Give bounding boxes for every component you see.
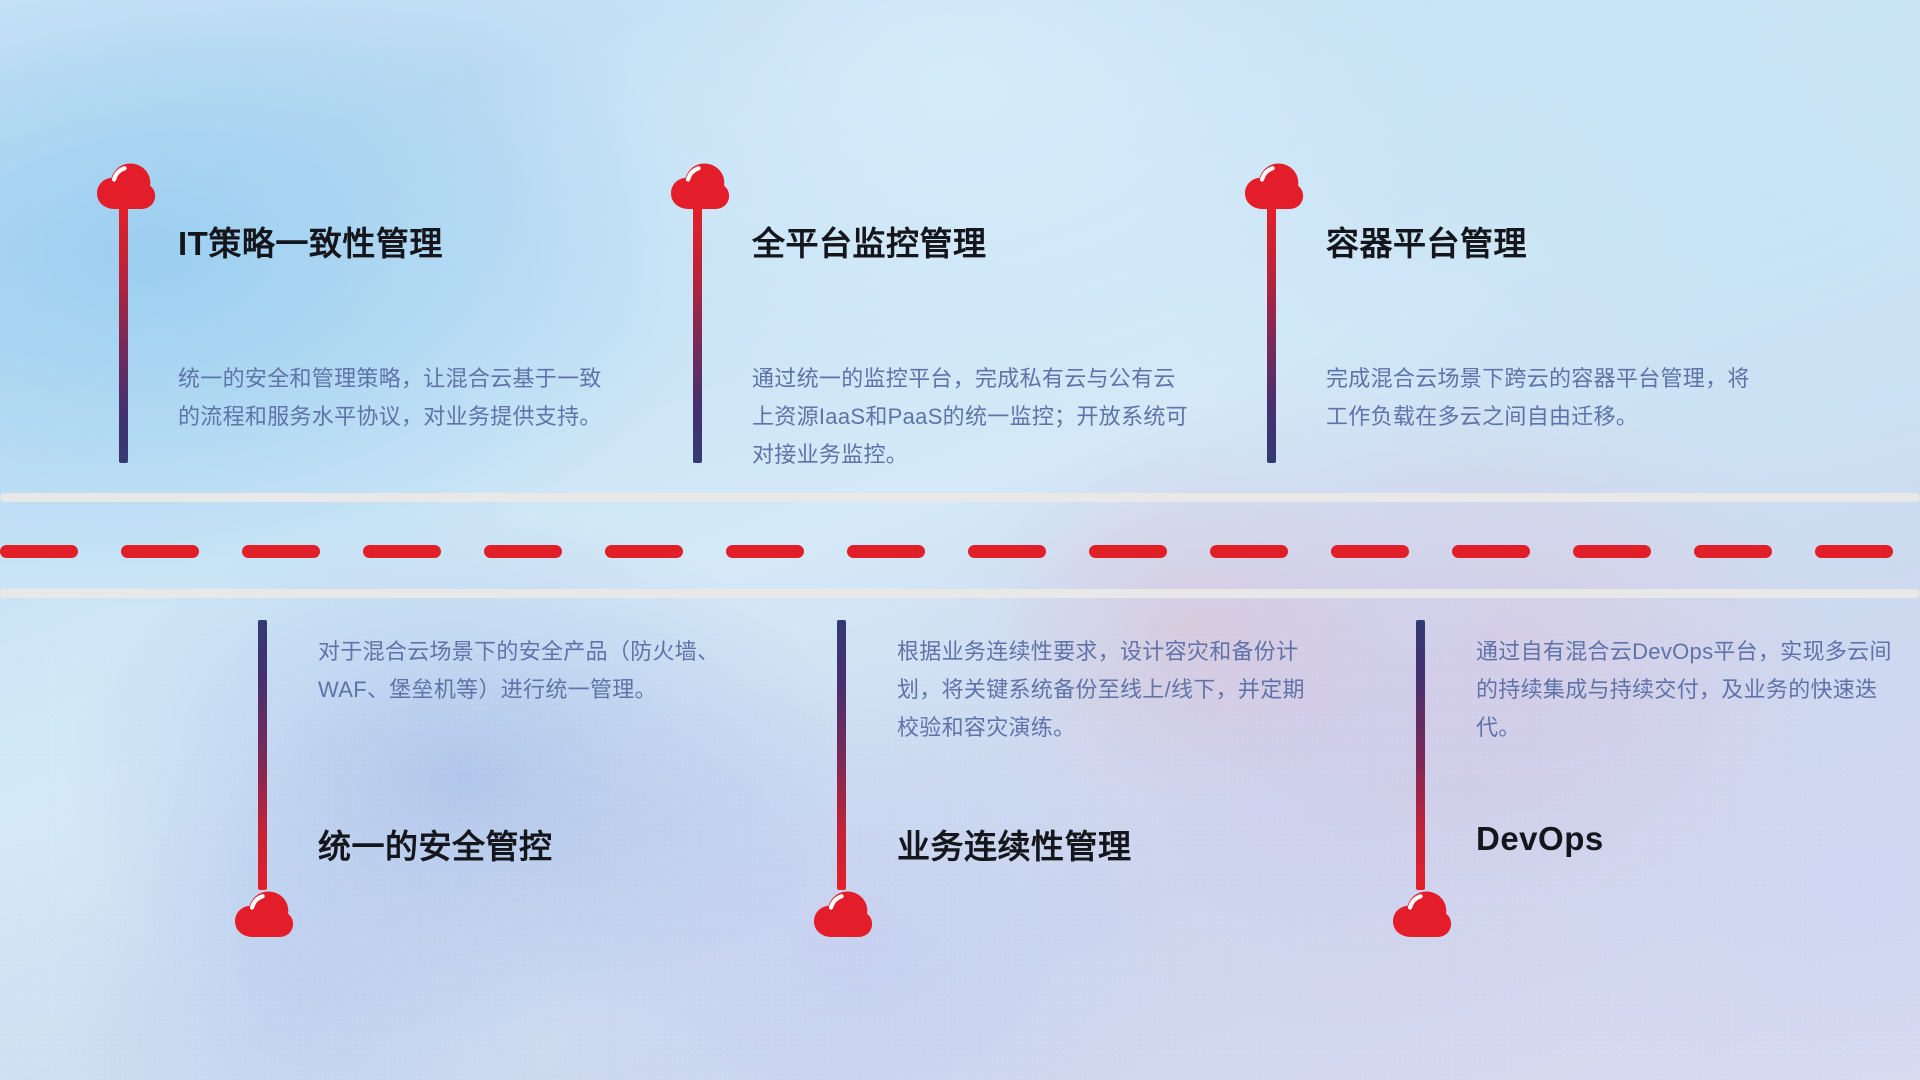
card-heading: 全平台监控管理 xyxy=(752,217,987,265)
stem-connector xyxy=(1416,620,1425,890)
card-body: 通过自有混合云DevOps平台，实现多云间的持续集成与持续交付，及业务的快速迭代… xyxy=(1476,633,1906,747)
road-dash xyxy=(1331,545,1409,558)
road-dash xyxy=(968,545,1046,558)
road-line-bottom xyxy=(0,589,1920,598)
card-body: 通过统一的监控平台，完成私有云与公有云上资源IaaS和PaaS的统一监控；开放系… xyxy=(752,360,1192,474)
road-dash-strip xyxy=(0,545,1920,558)
road-line-top xyxy=(0,493,1920,502)
road-dash xyxy=(1815,545,1893,558)
card-body: 根据业务连续性要求，设计容灾和备份计划，将关键系统备份至线上/线下，并定期校验和… xyxy=(897,633,1327,747)
cloud-icon xyxy=(95,162,157,210)
road-dash xyxy=(1573,545,1651,558)
cloud-icon xyxy=(669,162,731,210)
road-dash xyxy=(726,545,804,558)
card-heading: 容器平台管理 xyxy=(1326,217,1527,265)
road-dash xyxy=(1089,545,1167,558)
cloud-icon xyxy=(1391,890,1453,938)
stem-connector xyxy=(258,620,267,890)
stem-connector xyxy=(837,620,846,890)
card-heading: 统一的安全管控 xyxy=(318,820,553,868)
cloud-icon xyxy=(812,890,874,938)
road-dash xyxy=(484,545,562,558)
stem-connector xyxy=(119,205,128,463)
road-dash xyxy=(363,545,441,558)
road-dash xyxy=(242,545,320,558)
stem-connector xyxy=(1267,205,1276,463)
cloud-icon xyxy=(1243,162,1305,210)
card-body: 统一的安全和管理策略，让混合云基于一致的流程和服务水平协议，对业务提供支持。 xyxy=(178,360,608,436)
card-body: 对于混合云场景下的安全产品（防火墙、WAF、堡垒机等）进行统一管理。 xyxy=(318,633,748,709)
road-dash xyxy=(0,545,78,558)
stem-connector xyxy=(693,205,702,463)
cloud-icon xyxy=(233,890,295,938)
road-dash xyxy=(847,545,925,558)
card-heading: 业务连续性管理 xyxy=(897,820,1132,868)
card-heading: DevOps xyxy=(1476,820,1604,858)
card-heading: IT策略一致性管理 xyxy=(178,217,443,265)
road-dash xyxy=(1694,545,1772,558)
card-body: 完成混合云场景下跨云的容器平台管理，将工作负载在多云之间自由迁移。 xyxy=(1326,360,1756,436)
road-dash xyxy=(605,545,683,558)
road-dash xyxy=(1210,545,1288,558)
infographic-canvas: IT策略一致性管理 统一的安全和管理策略，让混合云基于一致的流程和服务水平协议，… xyxy=(0,0,1920,1080)
road-dash xyxy=(121,545,199,558)
road-dash xyxy=(1452,545,1530,558)
